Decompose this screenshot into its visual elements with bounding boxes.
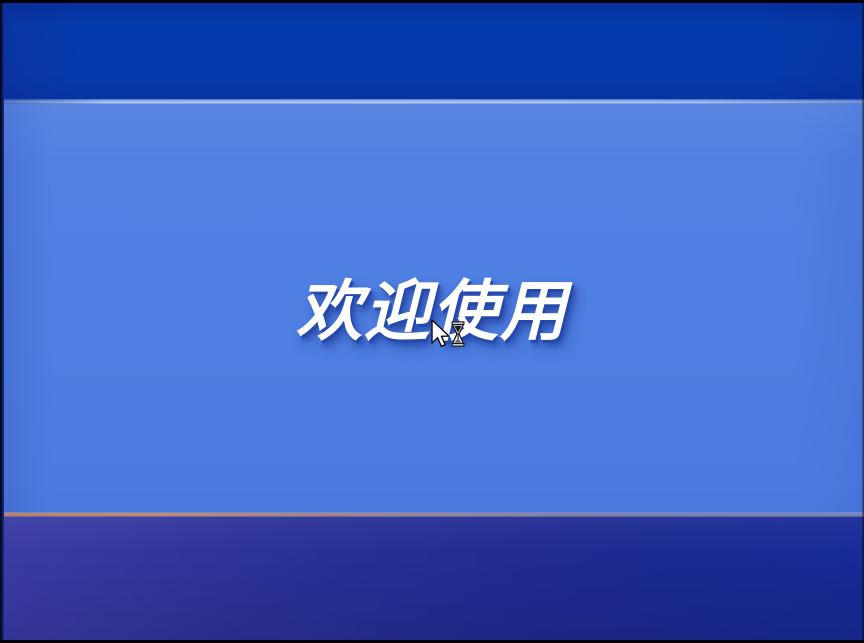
welcome-message: 欢迎使用 [0,258,864,354]
top-banner-band [0,0,864,101]
screen-edge-left [0,0,4,643]
screen-edge-top [0,0,864,3]
welcome-screen: 欢迎使用 [0,0,864,643]
bottom-banner-band [0,517,864,643]
